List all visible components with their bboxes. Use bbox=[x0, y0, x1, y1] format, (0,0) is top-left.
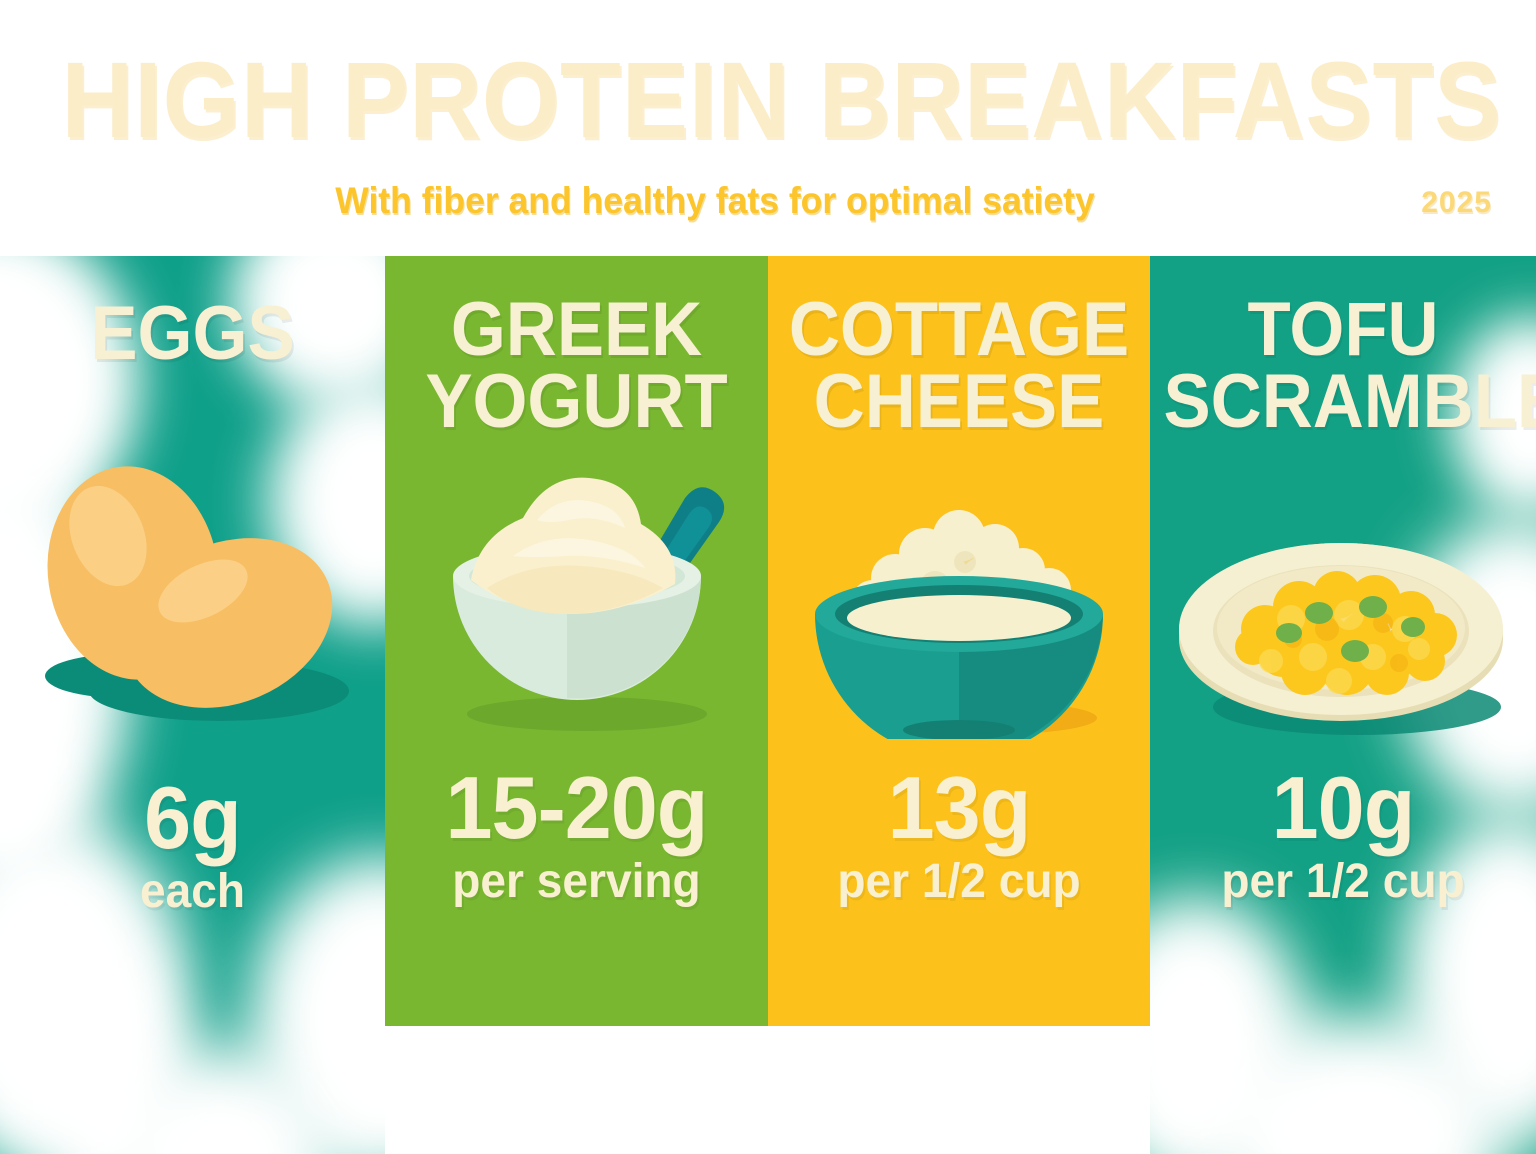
column-title-line: TOFU bbox=[1164, 294, 1523, 366]
page-title: HIGH PROTEIN BREAKFASTS bbox=[61, 46, 1474, 154]
stat-amount: 15-20g bbox=[393, 762, 761, 854]
column-title-line: EGGS bbox=[13, 298, 371, 370]
column-greek-yogurt[interactable]: GREEK YOGURT 15-20g bbox=[385, 256, 768, 1026]
column-title-cottage-cheese: COTTAGE CHEESE bbox=[781, 294, 1136, 438]
protein-columns: EGGS 6g each GREEK bbox=[0, 256, 1536, 1154]
column-title-line: YOGURT bbox=[398, 366, 754, 438]
stat-unit: each bbox=[8, 864, 378, 920]
yogurt-bowl-icon bbox=[417, 456, 737, 736]
column-title-eggs: EGGS bbox=[13, 298, 371, 370]
year-badge: 2025 bbox=[1421, 186, 1492, 220]
stat-amount: 10g bbox=[1158, 762, 1529, 854]
stat-tofu-scramble: 10g per 1/2 cup bbox=[1150, 762, 1536, 910]
cottage-cheese-bowl-icon bbox=[799, 474, 1119, 739]
stat-unit: per serving bbox=[393, 854, 761, 910]
column-tofu-scramble[interactable]: TOFU SCRAMBLE bbox=[1150, 256, 1536, 1154]
column-title-line: CHEESE bbox=[781, 366, 1136, 438]
tofu-scramble-plate-icon bbox=[1173, 511, 1513, 741]
eggs-icon bbox=[23, 441, 363, 731]
column-title-tofu-scramble: TOFU SCRAMBLE bbox=[1164, 294, 1523, 438]
column-cottage-cheese[interactable]: COTTAGE CHEESE bbox=[768, 256, 1150, 1026]
stat-cottage-cheese: 13g per 1/2 cup bbox=[768, 762, 1150, 910]
column-eggs[interactable]: EGGS 6g each bbox=[0, 256, 385, 1154]
column-title-line: COTTAGE bbox=[781, 294, 1136, 366]
stat-unit: per 1/2 cup bbox=[776, 854, 1143, 910]
stat-eggs: 6g each bbox=[0, 772, 385, 920]
infographic-header: HIGH PROTEIN BREAKFASTS With fiber and h… bbox=[0, 0, 1536, 256]
stat-amount: 6g bbox=[8, 772, 378, 864]
page-subtitle: With fiber and healthy fats for optimal … bbox=[29, 180, 1402, 222]
column-title-greek-yogurt: GREEK YOGURT bbox=[398, 294, 754, 438]
stat-amount: 13g bbox=[776, 762, 1143, 854]
stat-unit: per 1/2 cup bbox=[1158, 854, 1529, 910]
column-title-line: GREEK bbox=[398, 294, 754, 366]
stat-greek-yogurt: 15-20g per serving bbox=[385, 762, 768, 910]
column-title-line: SCRAMBLE bbox=[1164, 366, 1523, 438]
